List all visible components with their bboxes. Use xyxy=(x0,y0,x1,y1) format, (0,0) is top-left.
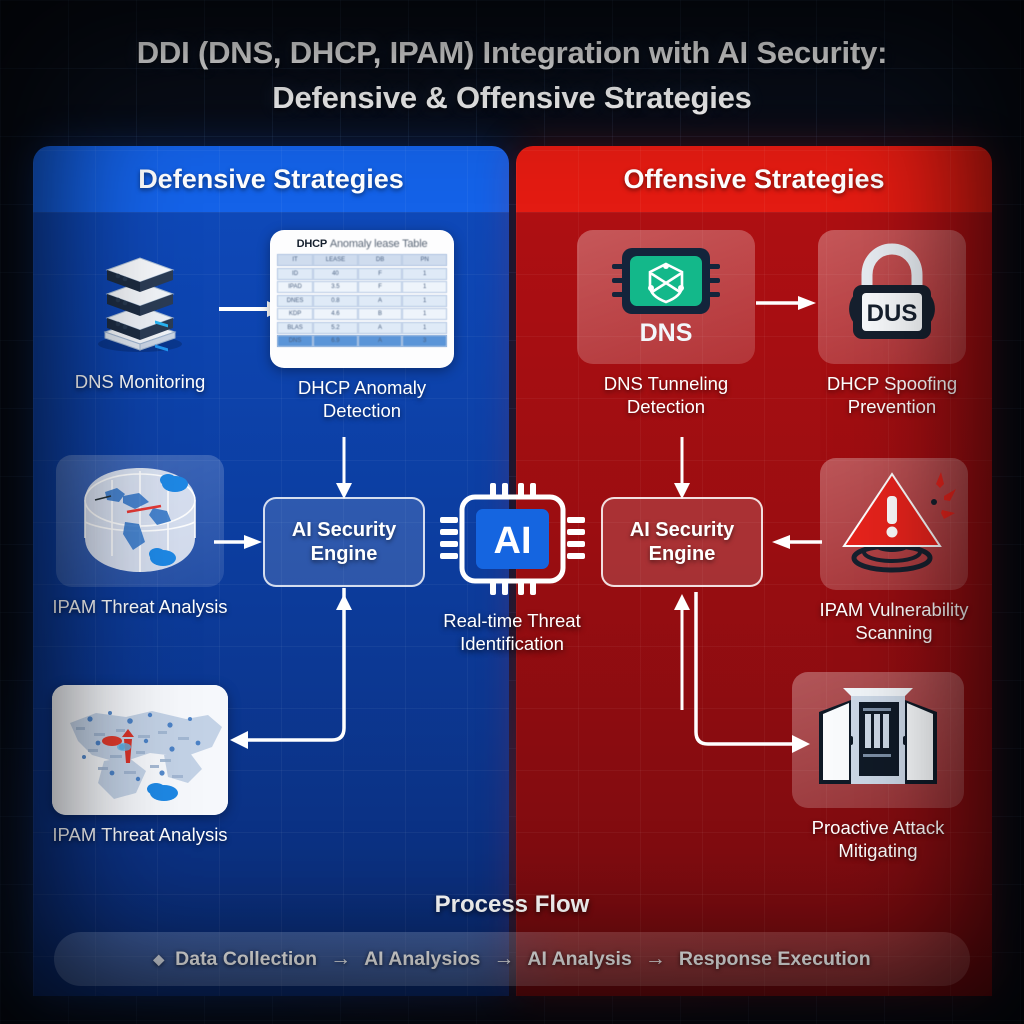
world-map-icon xyxy=(52,685,228,815)
center-ai-chip[interactable]: AI Real-time Threat Identification xyxy=(440,483,585,655)
arrow-dns-tunneling-to-engine xyxy=(673,437,691,499)
node-dns-monitoring-label: DNS Monitoring xyxy=(48,371,232,394)
dhcp-table-cell: DNES xyxy=(277,295,313,307)
dhcp-table-cell: F xyxy=(358,268,403,280)
dhcp-table-cell: B xyxy=(358,308,403,320)
node-proactive-attack-mitigating-label: Proactive Attack Mitigating xyxy=(786,817,970,862)
warning-triangle-icon xyxy=(832,466,956,582)
dhcp-table-cell: 40 xyxy=(313,268,358,280)
dhcp-table-row: DNES0.8A1 xyxy=(277,295,447,307)
ai-security-engine-defensive[interactable]: AI Security Engine xyxy=(263,497,425,587)
node-dhcp-anomaly-detection-label: DHCP Anomaly Detection xyxy=(270,377,454,422)
globe-network-icon xyxy=(65,462,215,580)
node-dns-tunneling-detection[interactable]: DNS DNS Tunneling Detection xyxy=(574,230,758,418)
node-dns-monitoring[interactable]: DNS Monitoring xyxy=(48,230,232,394)
dns-chip-icon: DNS xyxy=(604,236,728,358)
dhcp-table-row: DNS6.9A3 xyxy=(277,335,447,347)
dhcp-table-cell: A xyxy=(358,322,403,334)
node-dhcp-spoofing-prevention-label: DHCP Spoofing Prevention xyxy=(800,373,984,418)
dhcp-table-cell: A xyxy=(358,295,403,307)
dhcp-table-cell: 3 xyxy=(402,335,447,347)
dhcp-table-cell: 1 xyxy=(402,322,447,334)
node-ipam-vulnerability-scanning[interactable]: IPAM Vulnerability Scanning xyxy=(802,458,986,644)
process-flow-step[interactable]: AI Analysis xyxy=(527,948,631,971)
process-flow-separator-icon: → xyxy=(330,947,351,971)
dhcp-table-heading-rest: Anomaly lease Table xyxy=(330,238,428,250)
server-stack-icon-tile xyxy=(66,230,214,362)
process-flow-step[interactable]: Data Collection xyxy=(175,948,317,971)
node-ipam-threat-analysis-globe-label: IPAM Threat Analysis xyxy=(48,596,232,619)
dhcp-table-row: ID40F1 xyxy=(277,268,447,280)
defensive-panel-header: Defensive Strategies xyxy=(33,146,509,212)
node-ipam-vulnerability-scanning-label: IPAM Vulnerability Scanning xyxy=(802,599,986,644)
dhcp-table-heading-bold: DHCP xyxy=(297,238,327,250)
padlock-icon-tile: DUS xyxy=(818,230,966,364)
dhcp-table-header-row: IT LEASE DB PN xyxy=(277,254,447,266)
dhcp-table-icon: DHCP Anomaly lease Table IT LEASE DB PN … xyxy=(270,230,454,368)
node-dhcp-anomaly-detection[interactable]: DHCP Anomaly lease Table IT LEASE DB PN … xyxy=(270,230,454,422)
dhcp-table-cell: 1 xyxy=(402,295,447,307)
page-title: DDI (DNS, DHCP, IPAM) Integration with A… xyxy=(0,30,1024,121)
dhcp-col-2: DB xyxy=(358,254,403,266)
globe-network-icon-tile xyxy=(56,455,224,587)
server-stack-icon xyxy=(75,232,205,360)
dns-chip-icon-tile: DNS xyxy=(577,230,755,364)
open-server-cabinet-icon-tile xyxy=(792,672,964,808)
dhcp-table-row: KDP4.6B1 xyxy=(277,308,447,320)
dhcp-table-cell: 4.6 xyxy=(313,308,358,320)
dhcp-table-cell: IPAD xyxy=(277,281,313,293)
dhcp-table-cell: F xyxy=(358,281,403,293)
process-flow-separator-icon: → xyxy=(645,947,666,971)
dhcp-table-body: ID40F1IPAD3.5F1DNES0.8A1KDP4.6B1BLAS5.2A… xyxy=(277,268,447,348)
ai-security-engine-defensive-label: AI Security Engine xyxy=(265,518,423,566)
dhcp-table-row: BLAS5.2A1 xyxy=(277,322,447,334)
warning-triangle-icon-tile xyxy=(820,458,968,590)
ai-security-engine-offensive-label: AI Security Engine xyxy=(603,518,761,566)
dhcp-table-cell: A xyxy=(358,335,403,347)
dhcp-table-cell: 1 xyxy=(402,268,447,280)
process-flow-bar[interactable]: ◆Data Collection→AI Analysios→AI Analysi… xyxy=(54,932,970,986)
padlock-icon-text: DUS xyxy=(867,300,918,327)
node-dns-tunneling-detection-label: DNS Tunneling Detection xyxy=(574,373,758,418)
ai-security-engine-offensive[interactable]: AI Security Engine xyxy=(601,497,763,587)
world-map-icon-tile xyxy=(52,685,228,815)
process-flow-separator-icon: → xyxy=(493,947,514,971)
dhcp-col-3: PN xyxy=(402,254,447,266)
open-server-cabinet-icon xyxy=(805,680,951,800)
dhcp-col-0: IT xyxy=(277,254,313,266)
dhcp-table-cell: 3.5 xyxy=(313,281,358,293)
dns-chip-icon-text: DNS xyxy=(640,319,693,347)
offensive-panel-header: Offensive Strategies xyxy=(516,146,992,212)
ai-microchip-icon: AI xyxy=(440,483,585,595)
page-title-line-2: Defensive & Offensive Strategies xyxy=(0,75,1024,120)
process-flow-title: Process Flow xyxy=(0,891,1024,919)
dhcp-table-cell: KDP xyxy=(277,308,313,320)
dhcp-table-cell: 6.9 xyxy=(313,335,358,347)
dhcp-table-cell: DNS xyxy=(277,335,313,347)
dhcp-table-cell: 1 xyxy=(402,308,447,320)
arrow-dhcp-to-engine xyxy=(335,437,353,499)
center-ai-chip-text: AI xyxy=(494,520,532,562)
dhcp-table-row: IPAD3.5F1 xyxy=(277,281,447,293)
dhcp-table-cell: BLAS xyxy=(277,322,313,334)
dhcp-table-icon-tile: DHCP Anomaly lease Table IT LEASE DB PN … xyxy=(270,230,454,368)
node-dhcp-spoofing-prevention[interactable]: DUS DHCP Spoofing Prevention xyxy=(800,230,984,418)
dhcp-table-cell: 0.8 xyxy=(313,295,358,307)
process-flow-step[interactable]: AI Analysios xyxy=(364,948,480,971)
dhcp-table-heading: DHCP Anomaly lease Table xyxy=(277,238,447,250)
dhcp-table-cell: 5.2 xyxy=(313,322,358,334)
arrow-below-into-engine-defensive xyxy=(335,590,353,710)
dhcp-col-1: LEASE xyxy=(313,254,358,266)
node-ipam-threat-analysis-map-label: IPAM Threat Analysis xyxy=(48,824,232,847)
arrow-globe-to-engine xyxy=(214,533,266,551)
padlock-icon: DUS xyxy=(833,241,951,353)
process-flow-bullet: ◆ xyxy=(153,951,164,968)
process-flow-step[interactable]: Response Execution xyxy=(679,948,871,971)
dhcp-table-cell: 1 xyxy=(402,281,447,293)
node-ipam-threat-analysis-globe[interactable]: IPAM Threat Analysis xyxy=(48,455,232,619)
node-ipam-threat-analysis-map[interactable]: IPAM Threat Analysis xyxy=(48,685,232,847)
node-proactive-attack-mitigating[interactable]: Proactive Attack Mitigating xyxy=(786,672,970,862)
arrow-below-into-engine-offensive xyxy=(673,590,691,710)
dhcp-table-cell: ID xyxy=(277,268,313,280)
center-ai-chip-caption: Real-time Threat Identification xyxy=(412,610,612,655)
page-title-line-1: DDI (DNS, DHCP, IPAM) Integration with A… xyxy=(137,35,888,70)
